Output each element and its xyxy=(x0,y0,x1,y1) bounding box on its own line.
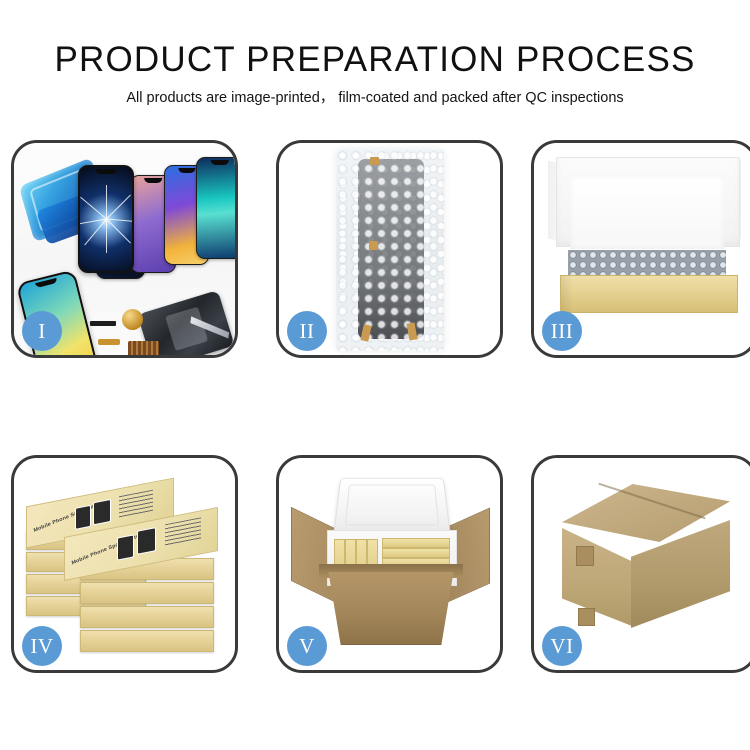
notch-icon xyxy=(211,160,229,165)
screen-thumbnail xyxy=(117,534,134,560)
crack-line-icon xyxy=(106,185,107,219)
yellow-box-front-icon xyxy=(560,275,738,313)
carton-body xyxy=(323,572,459,645)
notch-icon xyxy=(96,169,117,174)
crack-line-icon xyxy=(106,219,131,244)
retail-box-side xyxy=(80,582,214,604)
crack-line-icon xyxy=(106,195,131,220)
spec-list-lines xyxy=(165,517,201,547)
process-step-panel-2[interactable]: II xyxy=(276,140,503,358)
step-3-illustration: III xyxy=(534,143,750,355)
process-step-panel-1[interactable]: I xyxy=(11,140,238,358)
step-badge-1: I xyxy=(22,311,62,351)
step-2-illustration: II xyxy=(279,143,500,355)
spec-list-lines xyxy=(119,490,153,519)
flex-cable-icon xyxy=(98,339,120,345)
packed-box-item xyxy=(382,548,450,558)
step-badge-6: VI xyxy=(542,626,582,666)
foam-lid-icon xyxy=(333,478,450,534)
step-badge-3: III xyxy=(542,311,582,351)
step-4-illustration: Mobile Phone Spare Parts Mobile Phone Sp… xyxy=(14,458,235,670)
step-badge-4: IV xyxy=(22,626,62,666)
step-6-illustration: VI xyxy=(534,458,750,670)
step-1-illustration: I xyxy=(14,143,235,355)
process-step-panel-4[interactable]: Mobile Phone Spare Parts Mobile Phone Sp… xyxy=(11,455,238,673)
notch-icon xyxy=(178,168,195,173)
screen-thumbnail xyxy=(75,505,91,530)
step-5-illustration: V xyxy=(279,458,500,670)
retail-box-label-text: Mobile Phone Spare Parts xyxy=(33,501,102,534)
screen-thumbnail xyxy=(137,527,156,555)
page-header: PRODUCT PREPARATION PROCESS All products… xyxy=(0,0,750,128)
carton-tape-tab xyxy=(578,608,595,626)
retail-box-side xyxy=(80,630,214,652)
packed-box-item xyxy=(382,538,450,548)
notch-icon xyxy=(144,178,162,183)
crack-line-icon xyxy=(106,219,107,253)
process-step-panel-3[interactable]: III xyxy=(531,140,750,358)
bubble-wrap-bag-icon xyxy=(336,149,444,351)
speaker-coin-icon xyxy=(122,309,143,330)
phone-front-glass-icon xyxy=(78,165,134,273)
process-step-grid: I II III xyxy=(11,140,739,680)
tape-tab-icon xyxy=(370,157,379,165)
crack-line-icon xyxy=(80,197,107,220)
carton-left-face xyxy=(562,528,632,626)
process-step-panel-6[interactable]: VI xyxy=(531,455,750,673)
carton-tape-tab xyxy=(576,546,594,566)
process-step-panel-5[interactable]: V xyxy=(276,455,503,673)
phone-teal-icon xyxy=(196,157,235,259)
page-subtitle: All products are image-printed， film-coa… xyxy=(0,89,750,107)
earpiece-chip-icon xyxy=(90,321,116,326)
tape-tab-icon xyxy=(369,241,378,250)
retail-box-side xyxy=(80,606,214,628)
step-badge-5: V xyxy=(287,626,327,666)
foam-sheet-icon xyxy=(570,177,724,249)
connector-grid-icon xyxy=(128,341,159,355)
page-title: PRODUCT PREPARATION PROCESS xyxy=(0,40,750,80)
screen-thumbnail xyxy=(93,499,111,525)
bubble-texture xyxy=(336,149,444,351)
notch-icon xyxy=(35,278,58,288)
step-badge-2: II xyxy=(287,311,327,351)
